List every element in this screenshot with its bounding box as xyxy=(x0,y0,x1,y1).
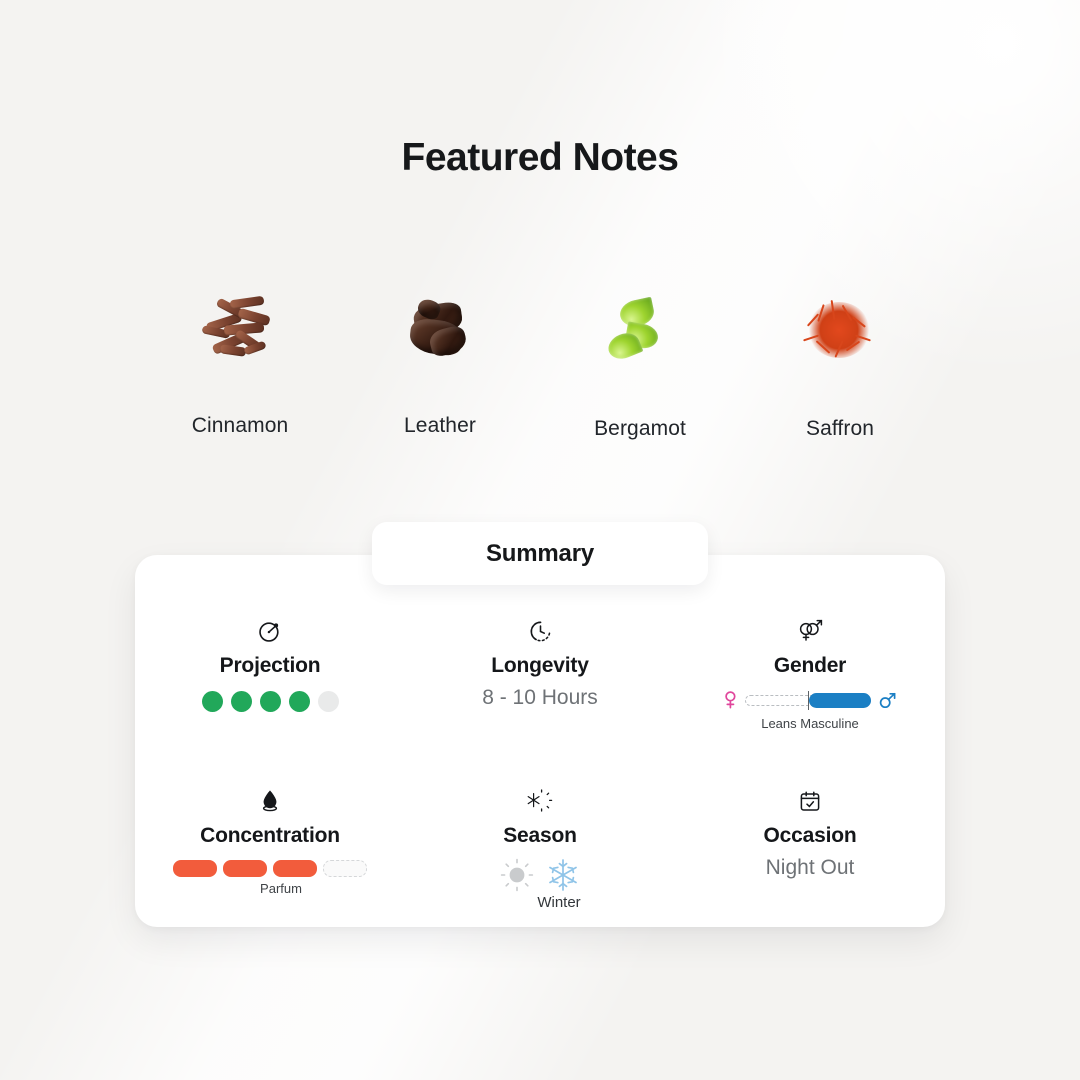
concentration-segment xyxy=(323,860,367,877)
page-title: Featured Notes xyxy=(0,136,1080,180)
featured-notes-list: Cinnamon Leather Bergamot xyxy=(140,288,940,441)
lime-wedges-image xyxy=(540,288,740,374)
note-label: Leather xyxy=(340,414,540,438)
gauge-icon xyxy=(257,616,283,646)
cell-title: Projection xyxy=(220,654,321,678)
projection-rating xyxy=(202,691,339,712)
mars-icon xyxy=(878,691,897,710)
concentration-segment xyxy=(173,860,217,877)
concentration-segment xyxy=(273,860,317,877)
saffron-threads-image xyxy=(740,288,940,374)
note-label: Cinnamon xyxy=(140,414,340,438)
note-item-leather[interactable]: Leather xyxy=(340,288,540,441)
sun-snowflake-icon xyxy=(527,786,553,816)
venus-mars-icon xyxy=(795,616,825,646)
droplet-icon xyxy=(258,786,282,816)
rating-dot xyxy=(289,691,310,712)
leather-hide-image xyxy=(340,288,540,374)
concentration-meter: Parfum xyxy=(173,860,367,896)
summary-cell-gender: Gender xyxy=(675,600,945,764)
rating-dot xyxy=(318,691,339,712)
summary-cell-concentration: Concentration Parfum xyxy=(135,764,405,928)
gender-caption: Leans Masculine xyxy=(761,716,859,731)
concentration-caption: Parfum xyxy=(260,881,302,896)
summary-cell-projection: Projection xyxy=(135,600,405,764)
summary-grid: Projection Longevity 8 - 10 Hours xyxy=(135,600,945,927)
rating-dot xyxy=(260,691,281,712)
note-item-bergamot[interactable]: Bergamot xyxy=(540,288,740,441)
page-root: Featured Notes Cinnamon xyxy=(0,0,1080,1080)
gender-slider[interactable] xyxy=(723,690,897,710)
cinnamon-sticks-image xyxy=(140,288,340,374)
rating-dot xyxy=(231,691,252,712)
cell-title: Longevity xyxy=(491,654,588,678)
concentration-bars xyxy=(173,860,367,877)
note-item-cinnamon[interactable]: Cinnamon xyxy=(140,288,340,441)
rating-dot xyxy=(202,691,223,712)
occasion-value: Night Out xyxy=(766,856,855,880)
calendar-check-icon xyxy=(798,786,822,816)
concentration-segment xyxy=(223,860,267,877)
longevity-value: 8 - 10 Hours xyxy=(482,686,598,710)
summary-cell-season: Season xyxy=(405,764,675,928)
summary-badge: Summary xyxy=(372,522,708,585)
season-caption: Winter xyxy=(537,894,580,911)
clock-icon xyxy=(528,616,553,646)
sun-icon[interactable] xyxy=(500,858,534,892)
note-item-saffron[interactable]: Saffron xyxy=(740,288,940,441)
cell-title: Occasion xyxy=(764,824,857,848)
slider-fill xyxy=(809,693,871,708)
note-label: Bergamot xyxy=(540,417,740,441)
cell-title: Concentration xyxy=(200,824,340,848)
summary-cell-longevity: Longevity 8 - 10 Hours xyxy=(405,600,675,764)
snowflake-icon[interactable] xyxy=(546,858,580,892)
venus-icon xyxy=(723,690,738,710)
note-label: Saffron xyxy=(740,417,940,441)
cell-title: Gender xyxy=(774,654,846,678)
season-options: Winter xyxy=(499,858,580,911)
summary-cell-occasion: Occasion Night Out xyxy=(675,764,945,928)
gender-slider-track[interactable] xyxy=(745,693,871,708)
cell-title: Season xyxy=(503,824,577,848)
